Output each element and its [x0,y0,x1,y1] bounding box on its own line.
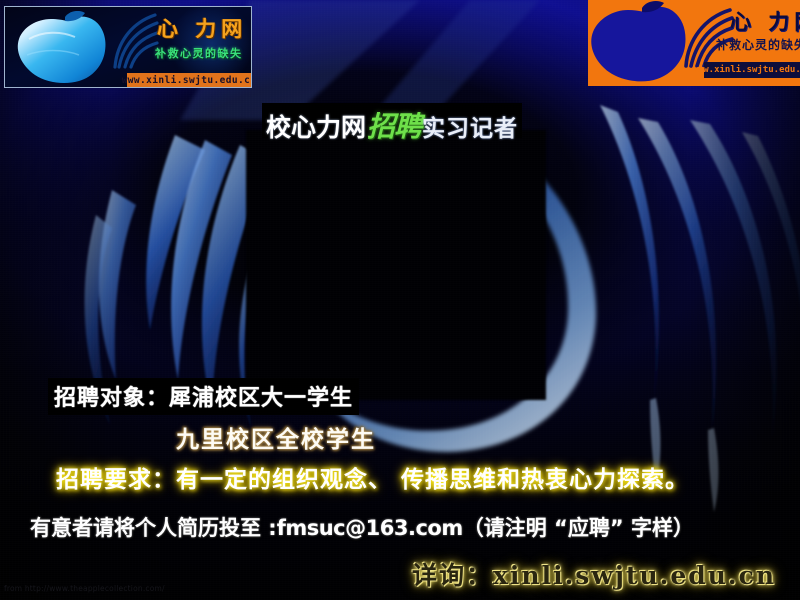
recruit-campus-line: 九里校区全校学生 [176,420,376,454]
site-logo-inverted[interactable]: 心 力网 补救心灵的缺失 www.xinli.swjtu.edu.cn [588,0,800,86]
poster-title: 校心力网 招聘 实习记者 [262,103,522,138]
title-role-name: 实习记者 [422,109,518,143]
email-label-text: 有意者请将个人简历投至 : [30,516,277,540]
source-watermark: from http://www.theapplecollection.com/ [4,584,165,593]
background-noise-texture [0,0,800,600]
inverted-logo-url-text: www.xinli.swjtu.edu.cn [704,62,800,78]
recruitment-poster: 心 力网 补救心灵的缺失 www.xinli.swjtu.edu.cn 心 力网… [0,0,800,600]
inverted-logo-name-text: 心 力网 [730,6,800,36]
recruit-contact-line[interactable]: 详询：xinli.swjtu.edu.cn [412,556,776,592]
recruit-requirement-line: 招聘要求：有一定的组织观念、 传播思维和热衷心力探索。 [56,460,689,494]
title-site-name: 校心力网 [266,108,366,144]
logo-slogan-text: 补救心灵的缺失 [155,45,243,61]
logo-name-text: 心 力网 [157,13,247,43]
blue-apple-logo-icon [9,11,121,85]
site-logo-banner[interactable]: 心 力网 补救心灵的缺失 www.xinli.swjtu.edu.cn [4,6,252,88]
recruit-email-line: 有意者请将个人简历投至 :fmsuc@163.com（请注明 “应聘” 字样） [30,512,694,542]
email-note-text: （请注明 “应聘” 字样） [463,516,694,540]
inverted-logo-slogan-text: 补救心灵的缺失 [716,36,800,53]
email-address-text[interactable]: fmsuc@163.com [277,516,463,540]
logo-url-text[interactable]: www.xinli.swjtu.edu.cn [127,73,251,88]
title-action-word: 招聘 [367,105,421,145]
recruit-target-line: 招聘对象：犀浦校区大一学生 [48,378,359,415]
